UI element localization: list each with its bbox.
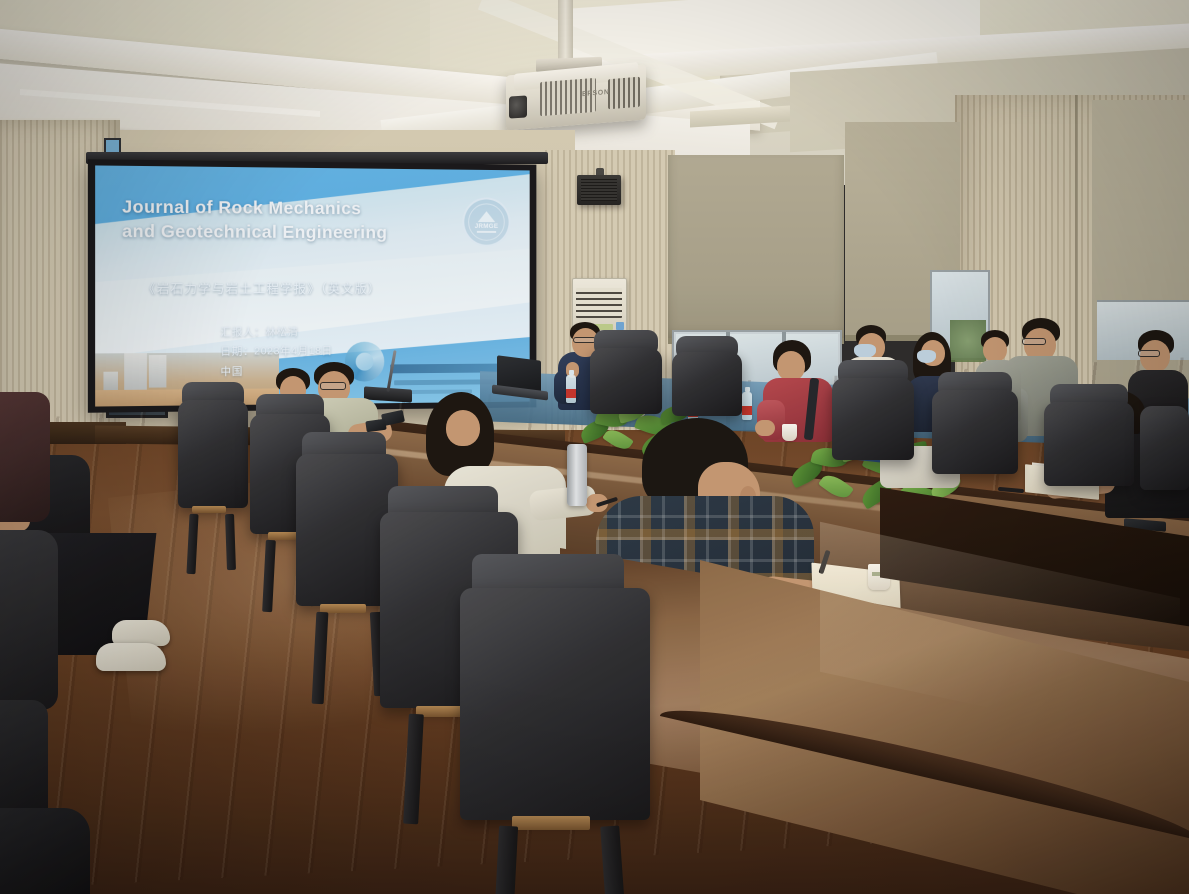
slide-title: Journal of Rock Mechanics and Geotechnic… bbox=[122, 194, 443, 244]
chair-leg bbox=[600, 825, 627, 894]
face-mask bbox=[854, 344, 876, 358]
attendee-fg-shoe-2 bbox=[96, 643, 166, 671]
ac-louvre-vent bbox=[576, 288, 622, 318]
slide-building-1 bbox=[124, 353, 147, 392]
attendee-extra-head bbox=[983, 337, 1007, 362]
chair-leg bbox=[493, 826, 518, 894]
jrmge-logo-text: JRMGE bbox=[475, 223, 499, 230]
attendee-red-head bbox=[777, 351, 805, 381]
attendee-black-glasses bbox=[1138, 350, 1160, 357]
chair-leg bbox=[403, 714, 424, 825]
slide-presenter: 汇报人：林松清 bbox=[220, 323, 332, 343]
projector-lens bbox=[509, 95, 527, 118]
projector-vent-right bbox=[608, 77, 640, 110]
chair-leg bbox=[225, 514, 236, 570]
chair-right-5[interactable] bbox=[1040, 384, 1140, 494]
chair-left-5-foreground[interactable] bbox=[452, 554, 682, 894]
chair-right-4[interactable] bbox=[928, 372, 1024, 484]
jrmge-mountain-icon bbox=[478, 211, 495, 222]
chair-wood-trim bbox=[512, 816, 590, 830]
chair-right-1[interactable] bbox=[586, 330, 666, 420]
jrmge-logo-bar bbox=[477, 231, 496, 233]
chair-right-2[interactable] bbox=[668, 336, 748, 424]
chair-right-6[interactable] bbox=[1140, 400, 1189, 496]
chair-backrest bbox=[460, 588, 650, 820]
conference-room-photo: EPSON bbox=[0, 0, 1189, 894]
slide-date: 日期：2023年4月18日 bbox=[220, 342, 332, 362]
chair-edge-left-lower[interactable] bbox=[0, 530, 58, 710]
speaker-grille bbox=[581, 179, 617, 201]
attendee-light-head bbox=[446, 410, 480, 446]
chair-backrest bbox=[590, 348, 662, 414]
attendee-grey-glasses bbox=[1022, 338, 1046, 345]
jrmge-logo-inner-ring: JRMGE bbox=[468, 203, 505, 241]
chair-backrest bbox=[672, 352, 742, 416]
chair-edge-left-bottom[interactable] bbox=[0, 700, 48, 820]
chair-leg bbox=[312, 612, 329, 705]
slide-subtitle: 《岩石力学与岩土工程学报》（英文版） bbox=[143, 278, 472, 297]
chair-backrest bbox=[1140, 406, 1189, 490]
jrmge-journal-logo: JRMGE bbox=[462, 197, 510, 246]
chair-leg bbox=[262, 540, 276, 612]
attendee-olive-glasses bbox=[320, 382, 346, 390]
chair-backrest bbox=[1044, 402, 1134, 486]
chair-backrest bbox=[932, 390, 1018, 474]
attendee-bottom-left-corner bbox=[0, 808, 90, 894]
chair-edge-left-upper[interactable] bbox=[0, 392, 50, 522]
window-roller-blind-1[interactable] bbox=[668, 155, 844, 340]
slide-title-line-2: and Geotechnical Engineering bbox=[122, 219, 443, 245]
slide-building-2 bbox=[149, 355, 166, 388]
slide-title-line-1: Journal of Rock Mechanics bbox=[122, 194, 443, 221]
